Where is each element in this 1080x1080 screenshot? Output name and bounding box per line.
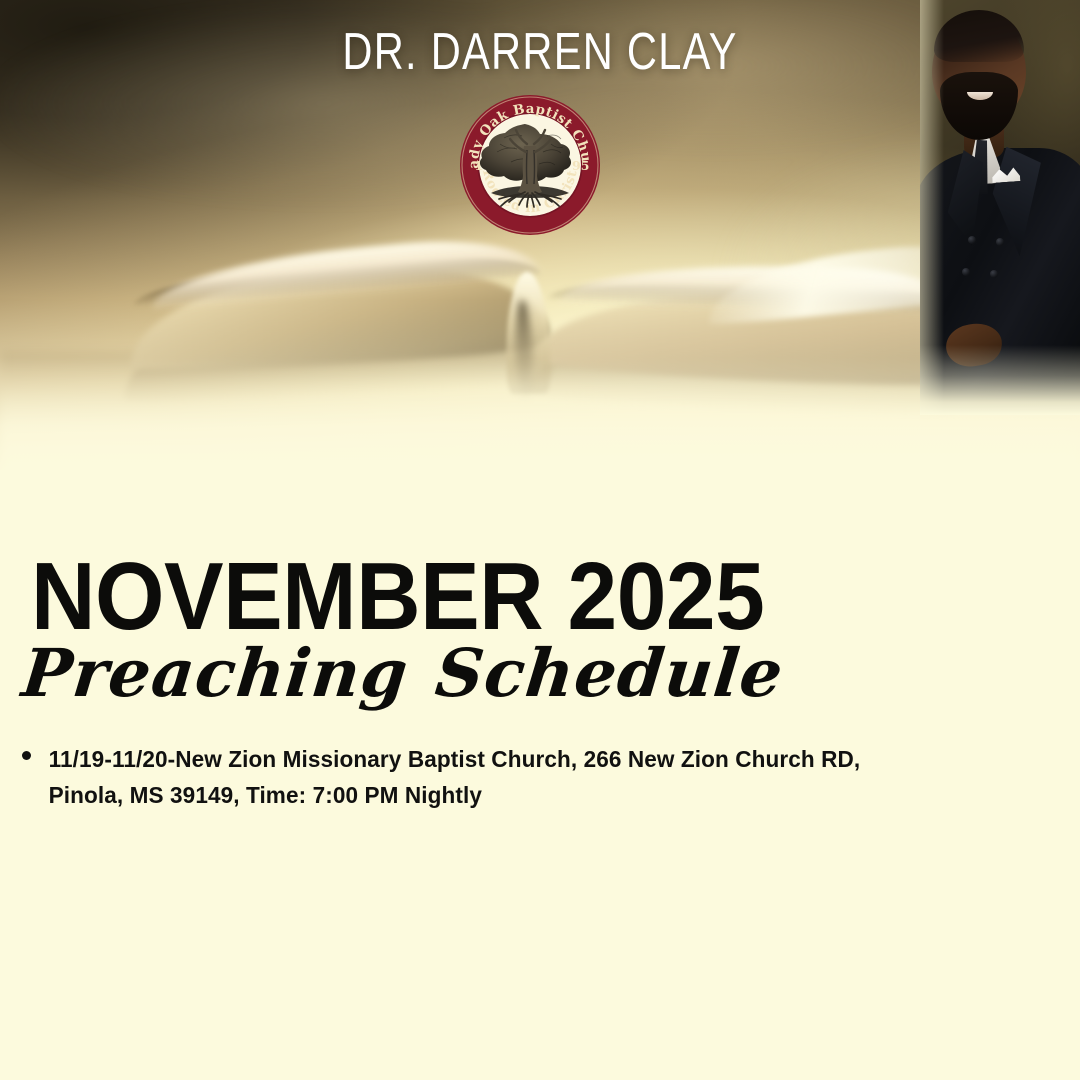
portrait-suit-button [990, 270, 998, 278]
flyer-canvas: DR. DARREN CLAY Shady Oak Baptist Church [0, 0, 1080, 1080]
bullet-icon [22, 742, 40, 760]
portrait-suit-button [962, 268, 970, 276]
portrait-bottom-fade [920, 345, 1080, 415]
hero-bottom-fade [0, 300, 1080, 470]
preaching-schedule-list: 11/19-11/20-New Zion Missionary Baptist … [22, 742, 902, 813]
speaker-name-title: DR. DARREN CLAY [108, 26, 972, 78]
portrait-suit-button [968, 236, 976, 244]
schedule-entry-text: 11/19-11/20-New Zion Missionary Baptist … [40, 742, 868, 813]
church-logo-seal: Shady Oak Baptist Church Rooted in Chris… [459, 94, 601, 236]
schedule-entry-line2: 7:00 PM Nightly [313, 782, 482, 808]
seal-year-right: 95 [572, 158, 589, 173]
page-title-month: NOVEMBER 2025 [31, 556, 764, 639]
list-item: 11/19-11/20-New Zion Missionary Baptist … [22, 742, 902, 813]
portrait-suit-button [996, 238, 1004, 246]
subtitle-word-schedule: Schedule [432, 634, 787, 712]
page-subtitle-script: PreachingSchedule [19, 640, 787, 706]
subtitle-word-preaching: Preaching [18, 634, 412, 712]
